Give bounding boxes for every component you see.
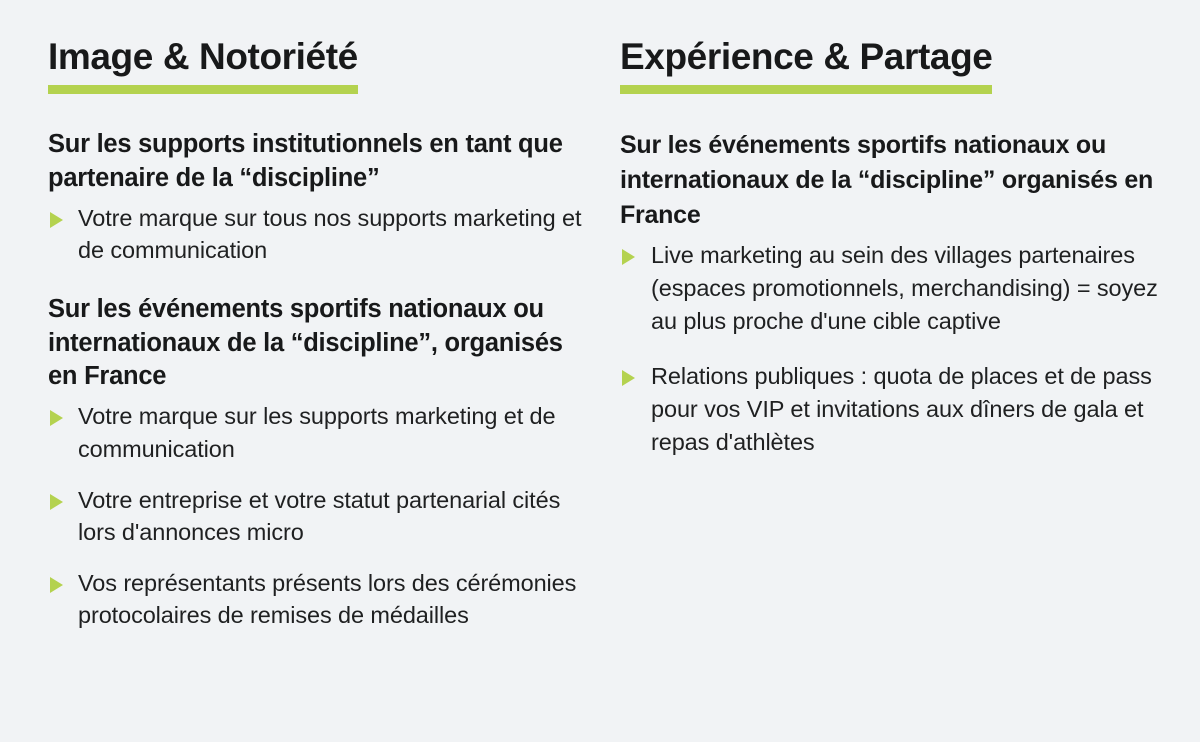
triangle-bullet-icon: [50, 577, 63, 593]
list-item-text: Votre marque sur les supports marketing …: [78, 403, 556, 461]
section-heading: Sur les événements sportifs nationaux ou…: [48, 293, 586, 395]
list-item-text: Votre entreprise et votre statut partena…: [78, 487, 560, 545]
column-image-notoriete: Image & Notoriété Sur les supports insti…: [24, 38, 596, 742]
page-title: Image & Notoriété: [48, 38, 358, 76]
triangle-bullet-icon: [622, 249, 635, 265]
title-underline-rule: [48, 85, 358, 94]
column-experience-partage: Expérience & Partage Sur les événements …: [596, 38, 1176, 742]
column-title-block: Image & Notoriété: [48, 38, 358, 94]
slide-root: Image & Notoriété Sur les supports insti…: [0, 0, 1200, 742]
title-underline-rule: [620, 85, 992, 94]
list-item-text: Vos représentants présents lors des céré…: [78, 570, 576, 628]
section-heading: Sur les événements sportifs nationaux ou…: [620, 128, 1168, 232]
section-evenements-sportifs: Sur les événements sportifs nationaux ou…: [48, 293, 586, 632]
bullet-list: Votre marque sur tous nos supports marke…: [48, 202, 586, 266]
bullet-list: Live marketing au sein des villages part…: [620, 239, 1168, 460]
list-item: Votre marque sur les supports marketing …: [48, 400, 586, 464]
triangle-bullet-icon: [50, 410, 63, 426]
section-evenements-sportifs-france: Sur les événements sportifs nationaux ou…: [620, 128, 1168, 459]
list-item: Vos représentants présents lors des céré…: [48, 567, 586, 631]
list-item: Votre marque sur tous nos supports marke…: [48, 202, 586, 266]
list-item: Votre entreprise et votre statut partena…: [48, 484, 586, 548]
column-title-block: Expérience & Partage: [620, 38, 992, 94]
list-item-text: Live marketing au sein des villages part…: [651, 242, 1158, 334]
list-item: Relations publiques : quota de places et…: [620, 360, 1168, 459]
triangle-bullet-icon: [622, 370, 635, 386]
triangle-bullet-icon: [50, 494, 63, 510]
page-title: Expérience & Partage: [620, 38, 992, 76]
list-item-text: Relations publiques : quota de places et…: [651, 363, 1152, 455]
list-item-text: Votre marque sur tous nos supports marke…: [78, 205, 581, 263]
triangle-bullet-icon: [50, 212, 63, 228]
list-item: Live marketing au sein des villages part…: [620, 239, 1168, 338]
section-heading: Sur les supports institutionnels en tant…: [48, 128, 586, 196]
bullet-list: Votre marque sur les supports marketing …: [48, 400, 586, 631]
section-supports-institutionnels: Sur les supports institutionnels en tant…: [48, 128, 586, 266]
